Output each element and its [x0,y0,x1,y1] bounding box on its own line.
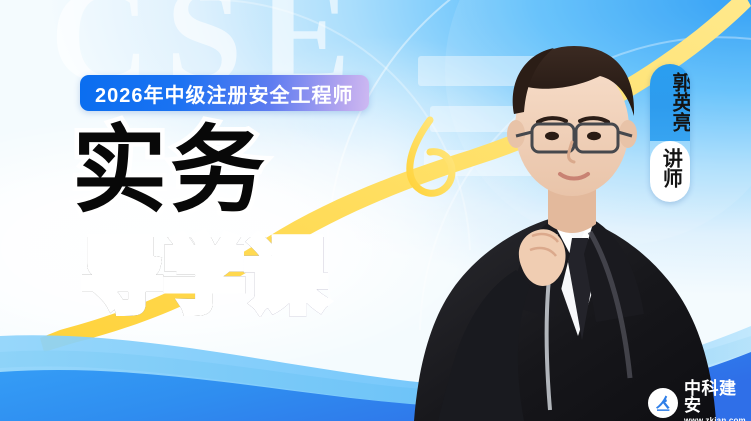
brand-text: 中科建安 www.zkjan.com [684,380,751,421]
brand-url: www.zkjan.com [684,417,751,421]
instructor-name: 郭英亮 [650,64,690,141]
headline-block: 实务 导学课 [72,124,328,317]
instructor-role: 讲师 [650,141,690,202]
brand-logo: 中科建安 www.zkjan.com [648,380,751,421]
zkjan-star-icon [648,388,678,418]
course-badge: 2026年中级注册安全工程师 [80,75,369,111]
headline-line-1: 实务 [72,124,328,219]
headline-line-2: 导学课 [82,237,328,317]
course-poster: CSE [0,0,751,421]
instructor-name-text: 郭英亮 [650,72,690,132]
instructor-role-text: 讲师 [660,148,681,188]
brand-name: 中科建安 [684,380,751,414]
instructor-pill: 郭英亮 讲师 [650,64,690,202]
